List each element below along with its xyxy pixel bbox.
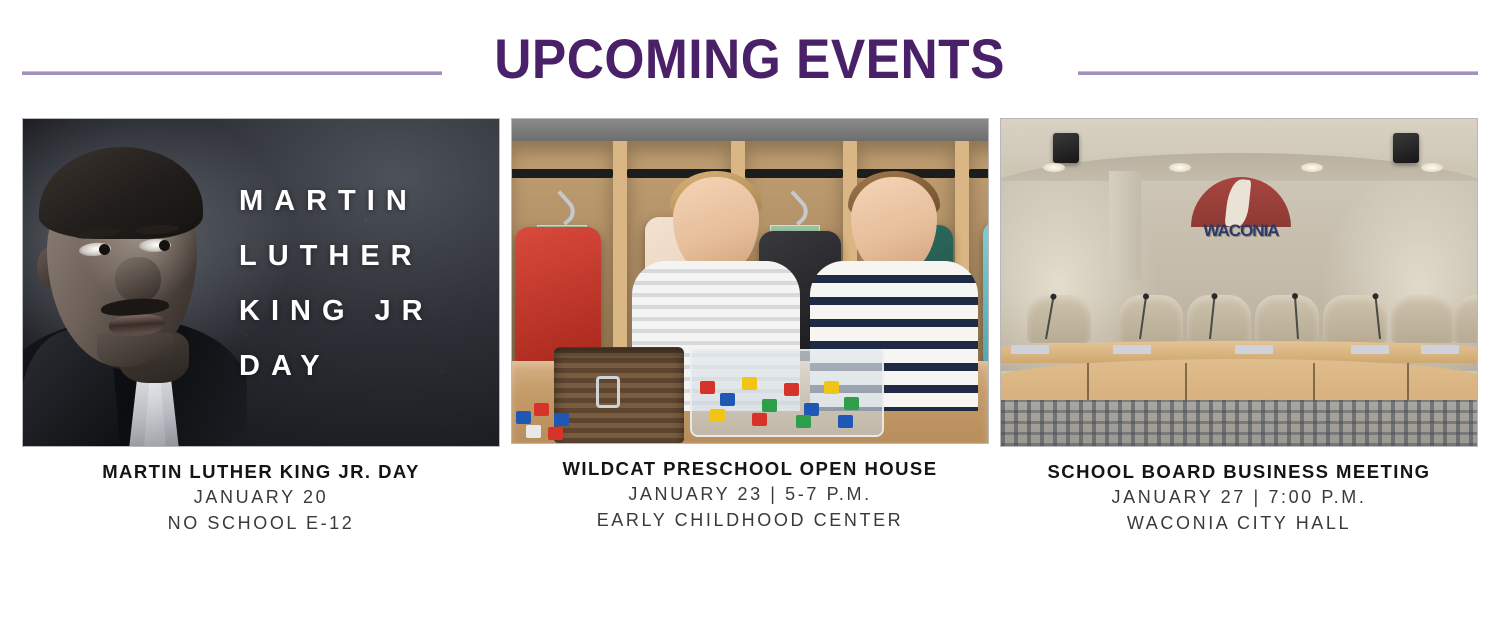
header-rule-left — [22, 71, 442, 75]
waconia-logo: WACONIA — [1191, 177, 1291, 249]
event-card-mlk[interactable]: MARTIN LUTHER KING JR DAY MARTIN LUTHER … — [22, 118, 500, 536]
ceiling-speaker-right — [1393, 133, 1419, 163]
event-card-preschool[interactable]: WILDCAT PRESCHOOL OPEN HOUSE JANUARY 23 … — [511, 118, 989, 536]
event-date: JANUARY 23 | 5-7 P.M. — [511, 481, 989, 507]
event-date: JANUARY 27 | 7:00 P.M. — [1000, 484, 1478, 510]
event-caption: SCHOOL BOARD BUSINESS MEETING JANUARY 27… — [1000, 447, 1478, 536]
event-caption: WILDCAT PRESCHOOL OPEN HOUSE JANUARY 23 … — [511, 444, 989, 533]
event-location: NO SCHOOL E-12 — [22, 510, 500, 536]
event-title: WILDCAT PRESCHOOL OPEN HOUSE — [511, 456, 989, 481]
ceiling-speaker-left — [1053, 133, 1079, 163]
event-date: JANUARY 20 — [22, 484, 500, 510]
event-caption: MARTIN LUTHER KING JR. DAY JANUARY 20 NO… — [22, 447, 500, 536]
event-location: EARLY CHILDHOOD CENTER — [511, 507, 989, 533]
event-card-school-board[interactable]: WACONIA — [1000, 118, 1478, 536]
mlk-overlay-line-2: LUTHER — [239, 229, 434, 284]
mlk-overlay-line-1: MARTIN — [239, 174, 434, 229]
carpet-floor — [1001, 400, 1477, 446]
event-image-mlk[interactable]: MARTIN LUTHER KING JR DAY — [22, 118, 500, 447]
mlk-overlay-text: MARTIN LUTHER KING JR DAY — [239, 174, 434, 394]
header-rule-right — [1078, 71, 1478, 75]
loose-blocks — [514, 401, 584, 441]
preschool-classroom-scene — [512, 119, 988, 443]
mlk-overlay-line-3: KING JR — [239, 284, 434, 339]
page-title: UPCOMING EVENTS — [474, 31, 1025, 87]
mlk-overlay-line-4: DAY — [239, 339, 434, 394]
event-image-preschool[interactable] — [511, 118, 989, 444]
event-title: SCHOOL BOARD BUSINESS MEETING — [1000, 459, 1478, 484]
page-header: UPCOMING EVENTS — [0, 0, 1500, 118]
event-title: MARTIN LUTHER KING JR. DAY — [22, 459, 500, 484]
council-chamber-scene: WACONIA — [1001, 119, 1477, 446]
logo-wordmark: WACONIA — [1193, 221, 1289, 241]
event-location: WACONIA CITY HALL — [1000, 510, 1478, 536]
block-bin — [690, 349, 884, 437]
events-row: MARTIN LUTHER KING JR DAY MARTIN LUTHER … — [0, 118, 1500, 536]
event-image-council-chamber[interactable]: WACONIA — [1000, 118, 1478, 447]
mlk-portrait-illustration — [23, 119, 243, 447]
